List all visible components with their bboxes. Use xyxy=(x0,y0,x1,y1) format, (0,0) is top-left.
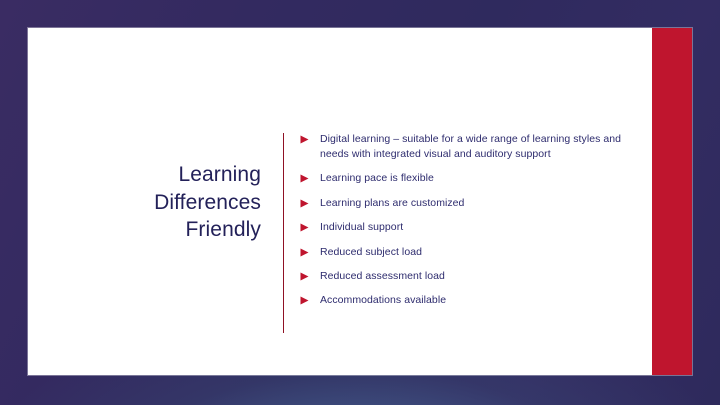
list-item: Learning pace is flexible xyxy=(300,171,630,186)
list-item-label: Reduced assessment load xyxy=(320,269,630,284)
list-item: Learning plans are customized xyxy=(300,196,630,211)
list-item-label: Reduced subject load xyxy=(320,245,630,260)
list-item-label: Digital learning – suitable for a wide r… xyxy=(320,132,630,162)
triangle-right-icon xyxy=(300,272,309,281)
title-body-divider xyxy=(283,133,284,333)
triangle-right-icon xyxy=(300,199,309,208)
slide-content-panel: Learning Differences Friendly Digital le… xyxy=(28,28,692,375)
slide-panel-inner: Learning Differences Friendly Digital le… xyxy=(28,28,652,375)
slide-canvas: Learning Differences Friendly Digital le… xyxy=(0,0,720,405)
triangle-right-icon xyxy=(300,135,309,144)
triangle-right-icon xyxy=(300,223,309,232)
list-item: Individual support xyxy=(300,220,630,235)
triangle-right-icon xyxy=(300,248,309,257)
triangle-right-icon xyxy=(300,296,309,305)
triangle-right-icon xyxy=(300,174,309,183)
bullet-list: Digital learning – suitable for a wide r… xyxy=(300,132,630,308)
list-item: Digital learning – suitable for a wide r… xyxy=(300,132,630,162)
list-item-label: Learning pace is flexible xyxy=(320,171,630,186)
accent-bar xyxy=(652,28,692,375)
list-item-label: Accommodations available xyxy=(320,293,630,308)
slide-title: Learning Differences Friendly xyxy=(68,161,261,244)
list-item: Accommodations available xyxy=(300,293,630,308)
list-item-label: Learning plans are customized xyxy=(320,196,630,211)
list-item: Reduced subject load xyxy=(300,245,630,260)
list-item-label: Individual support xyxy=(320,220,630,235)
list-item: Reduced assessment load xyxy=(300,269,630,284)
